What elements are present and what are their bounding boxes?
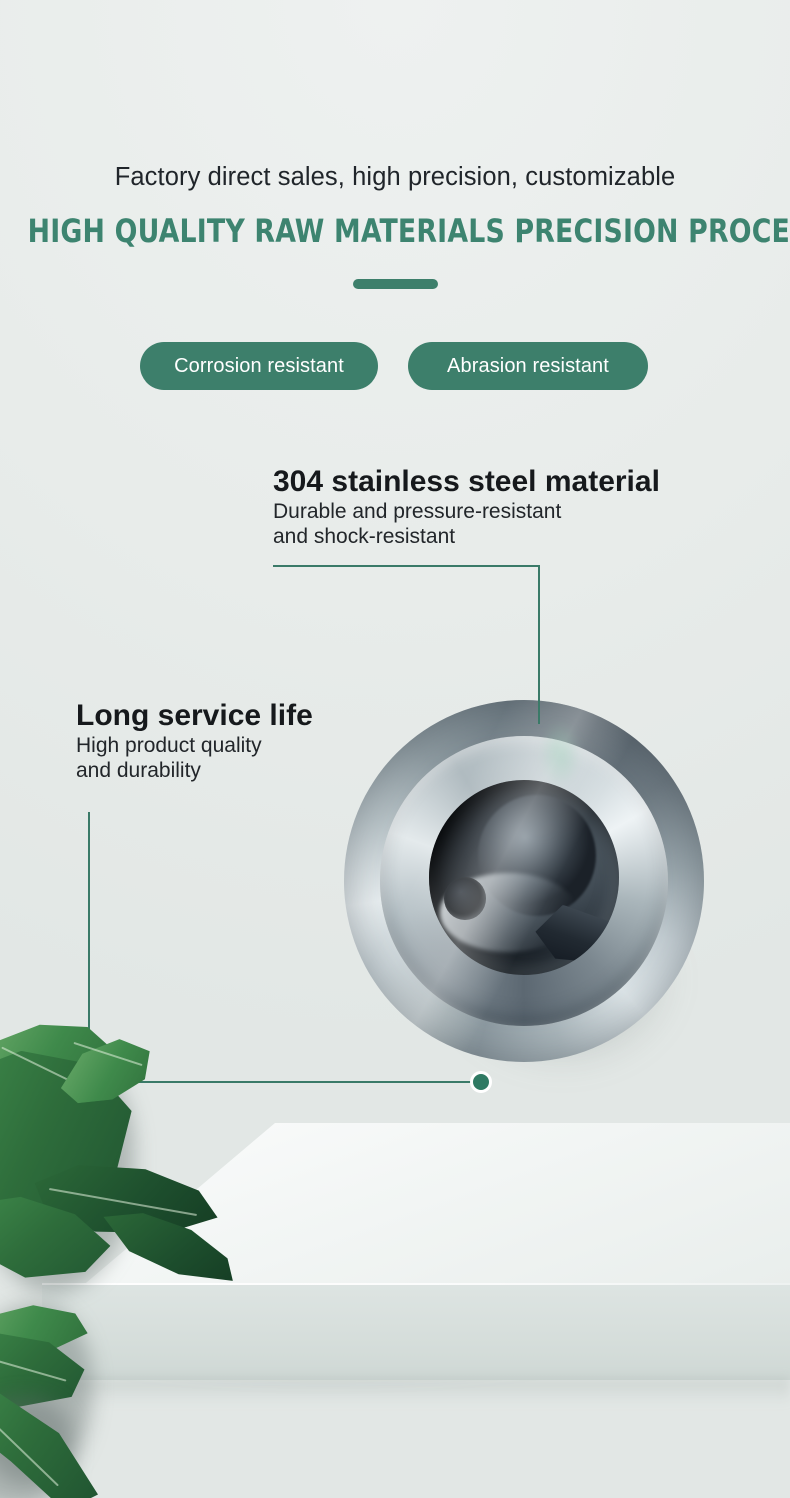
header-subtitle: Factory direct sales, high precision, cu… [0, 163, 790, 192]
callout-marker-dot [470, 1071, 492, 1093]
page-title: HIGH QUALITY RAW MATERIALS PRECISION PRO… [28, 212, 763, 250]
callout-material-title: 304 stainless steel material [273, 466, 660, 498]
badge-corrosion-resistant[interactable]: Corrosion resistant [140, 342, 378, 390]
title-divider [353, 279, 438, 289]
plant-decoration [0, 1005, 208, 1498]
ring-side-hole [444, 877, 486, 920]
callout-material: 304 stainless steel material Durable and… [273, 466, 660, 550]
callout-material-subtitle: Durable and pressure-resistant and shock… [273, 500, 660, 549]
ring-inner-bore [429, 780, 620, 975]
connector-line-top-horizontal [273, 565, 540, 567]
badge-abrasion-resistant[interactable]: Abrasion resistant [408, 342, 648, 390]
connector-line-top-vertical [538, 565, 540, 724]
product-image-stainless-steel-ring [344, 700, 704, 1062]
callout-service-life-subtitle: High product quality and durability [76, 734, 313, 783]
callout-service-life-title: Long service life [76, 700, 313, 732]
callout-service-life: Long service life High product quality a… [76, 700, 313, 784]
product-banner: Factory direct sales, high precision, cu… [0, 0, 790, 1498]
